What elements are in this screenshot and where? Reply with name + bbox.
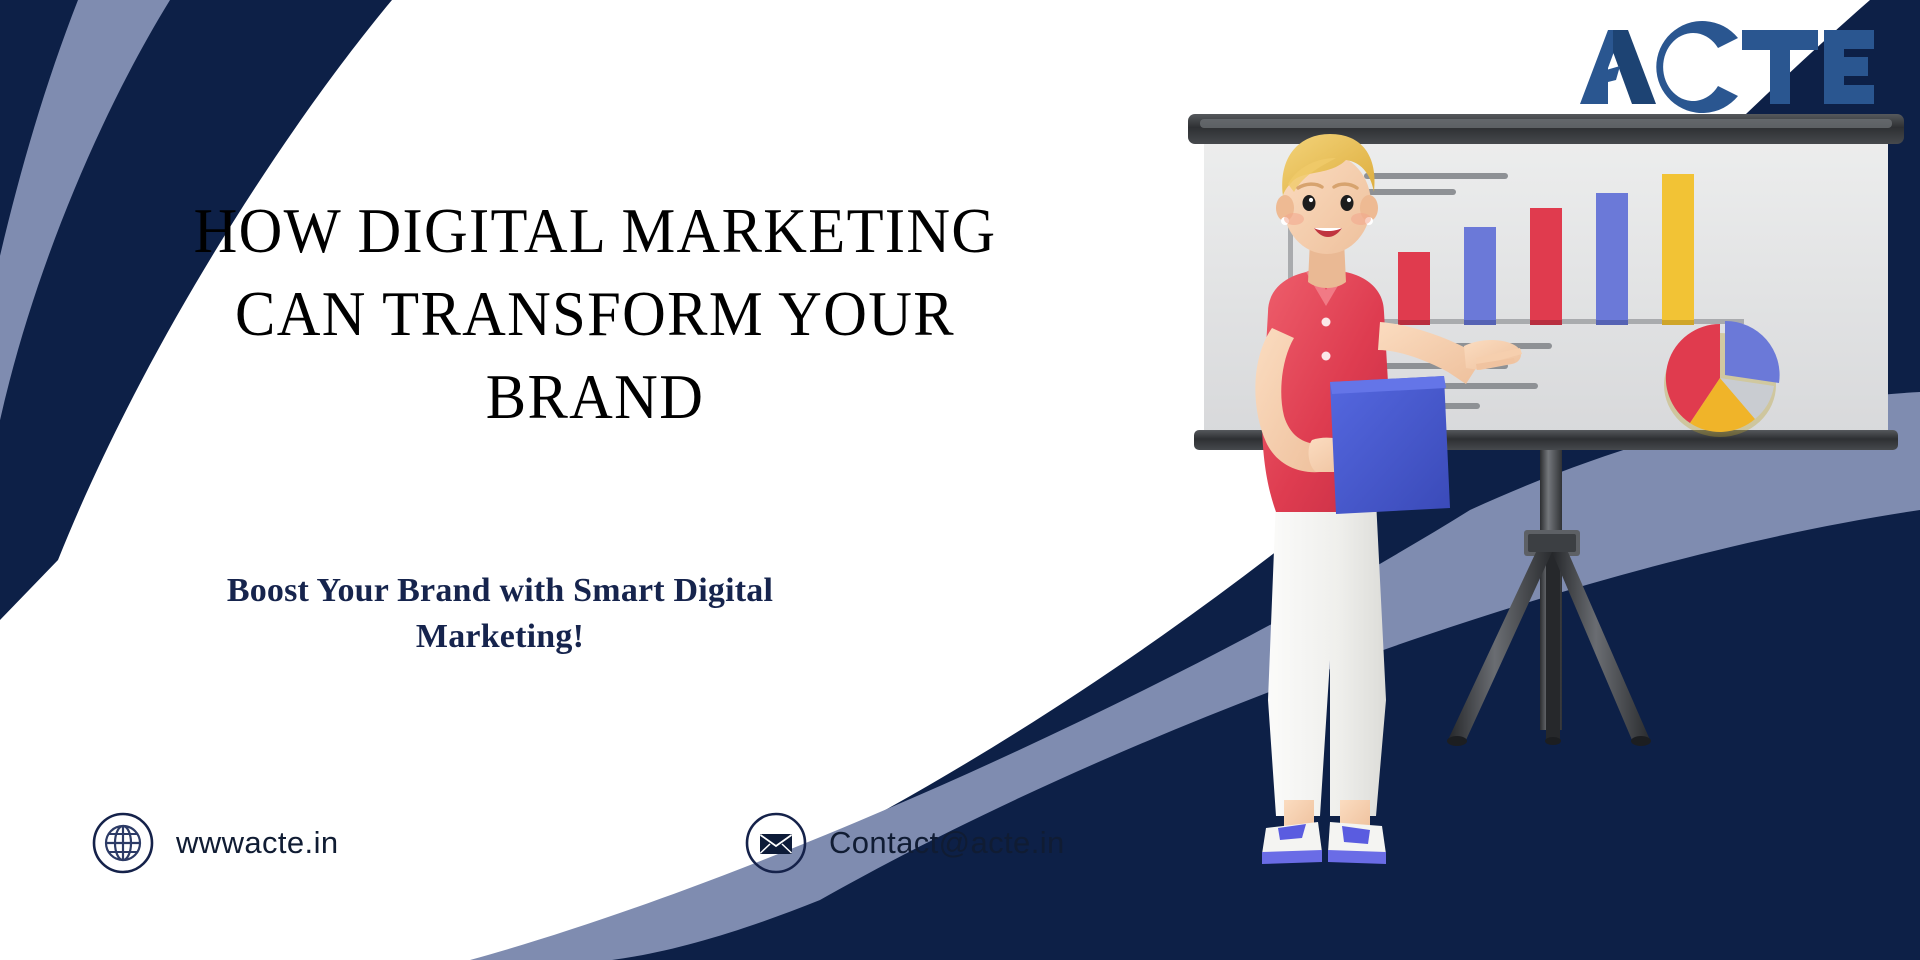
headline-line-1: HOW DIGITAL MARKETING [81, 190, 1108, 273]
shoe-left [1262, 822, 1322, 864]
globe-icon [92, 812, 154, 874]
shoe-right [1328, 822, 1386, 864]
bar-4 [1530, 208, 1562, 320]
headline-line-2: CAN TRANSFORM YOUR [81, 273, 1108, 356]
bar-3 [1464, 227, 1496, 320]
envelope-icon [745, 812, 807, 874]
contact-website[interactable]: wwwacte.in [92, 812, 339, 874]
contact-email[interactable]: Contact@acte.in [745, 812, 1065, 874]
bar-6 [1662, 174, 1694, 320]
logo-letter-e [1824, 30, 1874, 104]
logo-letter-c [1656, 21, 1738, 113]
logo-letter-a [1580, 30, 1656, 104]
acte-logo[interactable]: ACTE [1556, 18, 1876, 116]
headline-line-3: BRAND [81, 356, 1108, 439]
subtitle: Boost Your Brand with Smart Digital Mark… [110, 568, 890, 660]
contact-email-label: Contact@acte.in [829, 825, 1065, 861]
logo-letter-t [1742, 30, 1818, 104]
bar-2 [1398, 252, 1430, 320]
subtitle-line-2: Marketing! [110, 614, 890, 660]
blue-folder [1330, 376, 1450, 514]
page-title: HOW DIGITAL MARKETING CAN TRANSFORM YOUR… [60, 190, 1130, 439]
contact-website-label: wwwacte.in [176, 825, 339, 861]
bar-5 [1596, 193, 1628, 320]
pants [1268, 500, 1386, 816]
tripod-stand [1447, 430, 1651, 746]
presenter-illustration [1180, 100, 1920, 890]
marketing-banner: ACTE HOW DIGITAL MARKETING CAN TRANSFORM… [0, 0, 1920, 960]
subtitle-line-1: Boost Your Brand with Smart Digital [110, 568, 890, 614]
